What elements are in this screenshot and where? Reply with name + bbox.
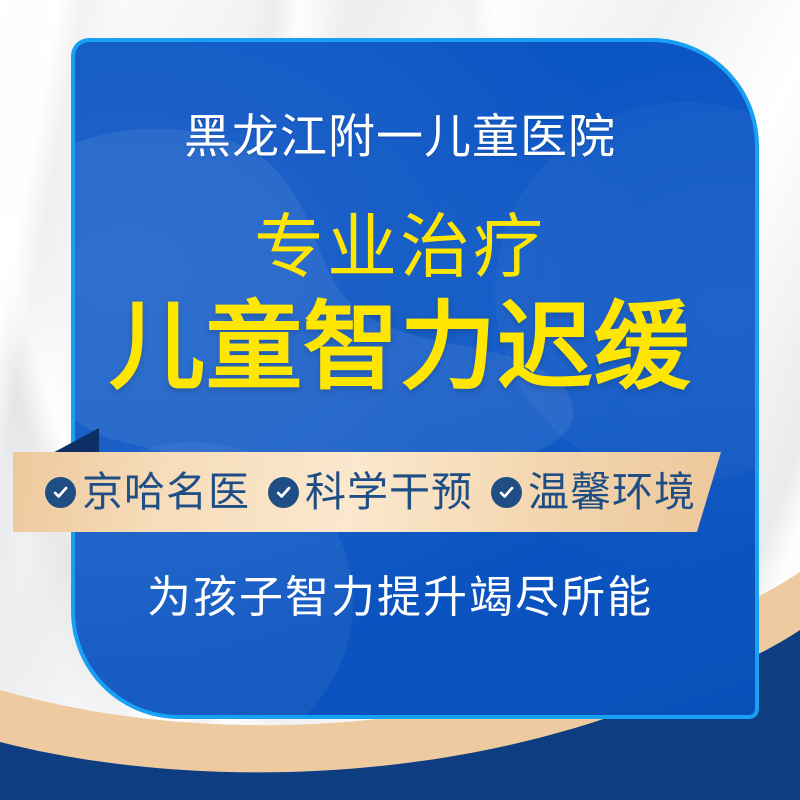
- footer-slogan: 为孩子智力提升竭尽所能: [0, 576, 800, 620]
- feature-label: 科学干预: [305, 472, 473, 513]
- check-circle-icon: [45, 477, 76, 508]
- ribbon-band: 京哈名医科学干预温馨环境: [13, 452, 721, 532]
- check-circle-icon: [491, 477, 522, 508]
- ribbon-shadow-corner: [47, 428, 99, 456]
- subheadline: 专业治疗: [0, 212, 800, 282]
- feature-item: 温馨环境: [491, 472, 696, 513]
- feature-label: 温馨环境: [528, 472, 696, 513]
- feature-list: 京哈名医科学干预温馨环境: [13, 472, 696, 513]
- feature-item: 京哈名医: [45, 472, 250, 513]
- check-circle-icon: [268, 477, 299, 508]
- organization-name: 黑龙江附一儿童医院: [0, 113, 800, 160]
- feature-label: 京哈名医: [82, 472, 250, 513]
- poster-canvas: 黑龙江附一儿童医院 专业治疗 儿童智力迟缓 为孩子智力提升竭尽所能 京哈名医科学…: [0, 0, 800, 800]
- headline: 儿童智力迟缓: [0, 300, 800, 396]
- feature-ribbon: 京哈名医科学干预温馨环境: [0, 428, 800, 558]
- feature-item: 科学干预: [268, 472, 473, 513]
- poster-content: 黑龙江附一儿童医院 专业治疗 儿童智力迟缓 为孩子智力提升竭尽所能: [0, 0, 800, 800]
